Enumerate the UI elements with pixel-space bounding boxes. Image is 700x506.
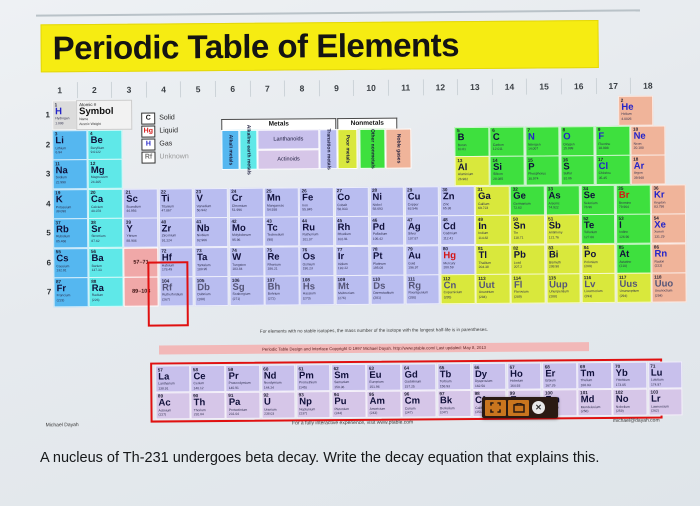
element-cell-Mo[interactable]: 42MoMolybdenum95.96 (229, 217, 264, 247)
element-cell-Br[interactable]: 35BrBromine79.904 (616, 184, 651, 214)
element-symbol: Ir (338, 252, 344, 262)
element-symbol: Se (584, 191, 596, 201)
state-legend-row-gas: HGas (141, 137, 203, 150)
grid-spacer (552, 96, 585, 124)
group-number-16: 16 (562, 78, 597, 94)
element-cell-At[interactable]: 85AtAstatine(210) (616, 243, 651, 273)
element-symbol: Os (303, 252, 316, 262)
element-mass: 231.04 (229, 413, 239, 417)
element-cell-Si[interactable]: 14SiSilicon28.085 (490, 156, 525, 186)
element-cell-Am[interactable]: 95AmAmericium(243) (366, 390, 401, 417)
element-mass: 58.933 (337, 208, 347, 212)
element-symbol: Cr (232, 194, 243, 204)
element-cell-Uup[interactable]: 115UupUnunpentium(288) (546, 273, 581, 303)
swatch-noble-label: Noble gases (395, 134, 401, 164)
element-cell-Ga[interactable]: 31GaGallium69.723 (475, 185, 510, 215)
element-mass: (281) (373, 296, 381, 300)
element-cell-Hg[interactable]: 80HgMercury200.59 (440, 245, 475, 275)
element-cell-Pb[interactable]: 82PbLead207.2 (511, 244, 546, 274)
element-cell-O[interactable]: 8OOxygen15.999 (560, 126, 595, 156)
element-cell-Nb[interactable]: 41NbNiobium92.906 (194, 217, 229, 247)
group-number-3: 3 (112, 82, 147, 98)
period-row-6: 655CsCaesium132.9156BaBarium137.3357–717… (44, 243, 658, 277)
element-mass: (268) (197, 298, 205, 302)
state-label-solid: Solid (159, 114, 175, 121)
element-symbol: Bk (440, 396, 452, 406)
element-mass: (293) (584, 295, 592, 299)
element-mass: (267) (162, 298, 170, 302)
element-cell-No[interactable]: 102NoNobelium(259) (613, 388, 648, 415)
swatch-alkali-metals: Alkali metals (221, 130, 239, 170)
element-mass: 92.906 (197, 239, 207, 243)
element-cell-Cu[interactable]: 29CuCopper63.546 (405, 186, 440, 216)
grid-spacer (422, 156, 455, 184)
element-symbol: Ba (91, 254, 103, 264)
element-mass: 232.04 (194, 413, 204, 417)
lanthanoid-placeholder-label: 57–71 (133, 259, 148, 265)
element-cell-V[interactable]: 23VVanadium50.942 (194, 187, 229, 217)
element-mass: 6.94 (55, 151, 61, 155)
element-cell-Uut[interactable]: 113UutUnuntrium(284) (476, 274, 511, 304)
element-cell-Hf[interactable]: 72HfHafnium178.49 (159, 247, 194, 277)
element-mass: 178.49 (162, 268, 172, 272)
element-cell-W[interactable]: 74WTungsten183.84 (229, 246, 264, 276)
series-row-lanthanoids: 57LaLanthanum138.9158CeCerium140.1259PrP… (155, 361, 683, 391)
period-number: 6 (44, 248, 53, 277)
element-mass: (237) (299, 412, 307, 416)
element-symbol: Hg (443, 251, 456, 261)
state-label-gas: Gas (159, 140, 172, 147)
element-cell-Bk[interactable]: 97BkBerkelium(247) (437, 390, 472, 417)
element-cell-Np[interactable]: 93NpNeptunium(237) (296, 391, 331, 418)
group-number-7: 7 (250, 81, 285, 97)
element-cell-Re[interactable]: 75ReRhenium186.21 (264, 246, 299, 276)
element-mass: 173.05 (616, 383, 626, 387)
question-text: A nucleus of Th-231 undergoes beta decay… (40, 448, 670, 469)
element-mass: 39.948 (634, 176, 644, 180)
element-cell-Bi[interactable]: 83BiBismuth208.98 (546, 244, 581, 274)
swatch-transition-metals: Transition metals (319, 129, 337, 169)
element-cell-Ni[interactable]: 28NiNickel58.693 (369, 186, 404, 216)
group-number-12: 12 (423, 79, 458, 95)
group-number-13: 13 (458, 79, 493, 95)
element-cell-Rf[interactable]: 104RfRutherfordium(267) (159, 276, 194, 306)
element-mass: 9.0122 (91, 151, 101, 155)
element-symbol: Mn (267, 194, 281, 204)
element-symbol: Co (337, 193, 350, 203)
element-symbol: Cu (408, 192, 421, 202)
swatch-transition-label: Transition metals (325, 129, 331, 170)
element-symbol: Ga (478, 192, 491, 202)
element-cell-Ar[interactable]: 18ArArgon39.948 (631, 155, 666, 185)
element-cell-Po[interactable]: 84PoPolonium(209) (581, 243, 616, 273)
element-mass: (243) (370, 412, 378, 416)
element-mass: 207.2 (514, 266, 522, 270)
element-symbol: Pb (514, 251, 526, 261)
element-cell-As[interactable]: 33AsArsenic74.922 (545, 185, 580, 215)
element-cell-Ta[interactable]: 73TaTantalum180.95 (194, 246, 229, 276)
element-mass: (258) (581, 410, 589, 414)
swatch-actinoids-label: Actinoids (277, 156, 299, 162)
element-cell-Mt[interactable]: 109MtMeitnerium(276) (335, 275, 370, 305)
element-mass: 140.91 (229, 386, 239, 390)
element-mass: 180.95 (197, 268, 207, 272)
element-symbol: Zn (443, 192, 455, 202)
element-cell-B[interactable]: 5BBoron10.81 (455, 126, 490, 156)
element-cell-Lu[interactable]: 71LuLutetium174.97 (648, 361, 683, 388)
group-number-4: 4 (147, 81, 182, 97)
element-mass: 204.38 (479, 266, 489, 270)
media-overlay-toolbar[interactable]: ✕ (482, 397, 558, 418)
element-mass: 168.93 (581, 384, 591, 388)
element-mass: (222) (655, 265, 663, 269)
element-cell-Co[interactable]: 27CoCobalt58.933 (334, 186, 369, 216)
element-cell-U[interactable]: 92UUranium238.03 (261, 391, 296, 418)
element-mass: 35.45 (599, 176, 607, 180)
element-cell-Tc[interactable]: 43TcTechnetium(98) (264, 216, 299, 246)
element-cell-Sn[interactable]: 50SnTin118.71 (510, 214, 545, 244)
element-mass: 164.93 (510, 384, 520, 388)
element-symbol: U (264, 398, 271, 408)
element-mass: 195.08 (373, 267, 383, 271)
element-symbol: As (548, 191, 560, 201)
credit-website: For a fully interactive experience, visi… (196, 419, 510, 427)
period-number: 2 (43, 130, 52, 159)
swatch-poor-label: Poor metals (344, 135, 350, 164)
element-mass: (285) (444, 296, 452, 300)
state-symbol-liquid: Hg (141, 125, 155, 137)
element-symbol: Am (370, 397, 385, 407)
element-symbol: Fe (302, 193, 313, 203)
element-cell-Fl[interactable]: 114FlFlerovium(289) (511, 273, 546, 303)
element-mass: 196.97 (408, 266, 418, 270)
element-mass: 10.81 (458, 148, 466, 152)
element-mass: (271) (233, 297, 241, 301)
element-mass: 132.91 (56, 269, 66, 273)
element-cell-Se[interactable]: 34SeSelenium78.96 (581, 184, 616, 214)
element-mass: 58.693 (373, 208, 383, 212)
element-cell-Au[interactable]: 79AuGold196.97 (405, 245, 440, 275)
element-symbol: O (563, 132, 570, 142)
element-cell-Cd[interactable]: 48CdCadmium112.41 (440, 215, 475, 245)
element-cell-Dy[interactable]: 66DyDysprosium162.50 (472, 363, 507, 390)
lanthanoid-series-placeholder[interactable]: 57–71 (124, 247, 159, 277)
element-cell-Li[interactable]: 3LiLithium6.94 (52, 130, 87, 160)
element-cell-Sm[interactable]: 62SmSamarium150.36 (331, 364, 366, 391)
element-cell-Ca[interactable]: 20CaCalcium40.078 (88, 188, 123, 218)
element-mass: 18.998 (598, 147, 608, 151)
element-symbol: Cs (56, 254, 68, 264)
element-cell-Ru[interactable]: 44RuRuthenium101.07 (299, 216, 334, 246)
element-cell-Cn[interactable]: 112CnCopernicium(285) (441, 274, 476, 304)
element-symbol: Be (91, 136, 103, 146)
element-cell-Ne[interactable]: 10NeNeon20.180 (630, 125, 665, 155)
element-cell-Kr[interactable]: 36KrKrypton83.798 (651, 184, 686, 214)
element-symbol: Lr (651, 395, 661, 405)
nonmetals-header: Nonmetals (337, 118, 397, 129)
element-mass: (294) (655, 294, 663, 298)
element-cell-Cm[interactable]: 96CmCurium(247) (402, 390, 437, 417)
element-cell-Fr[interactable]: 87FrFrancium(223) (53, 277, 88, 307)
element-mass: 1.008 (55, 122, 63, 126)
element-mass: 118.71 (514, 236, 524, 240)
group-number-8: 8 (285, 80, 320, 96)
element-mass: 183.84 (232, 268, 242, 272)
element-cell-Ba[interactable]: 56BaBarium137.33 (88, 247, 123, 277)
element-symbol: Md (581, 395, 595, 405)
element-mass: 74.922 (549, 206, 559, 210)
element-symbol: Rn (654, 250, 667, 260)
close-icon[interactable]: ✕ (532, 401, 545, 414)
periodic-table-poster: Periodic Table of Elements 1234567891011… (28, 5, 671, 430)
element-cell-Te[interactable]: 52TeTellurium127.60 (581, 214, 616, 244)
element-mass: 69.723 (478, 207, 488, 211)
element-symbol: Ca (91, 195, 103, 205)
element-cell-Ac[interactable]: 89AcActinium(227) (155, 392, 190, 419)
fullscreen-icon[interactable] (485, 400, 506, 416)
group-number-17: 17 (596, 78, 631, 94)
state-legend: CSolidHgLiquidHGasRfUnknown (141, 111, 203, 163)
element-mass: (98) (267, 238, 273, 242)
element-cell-La[interactable]: 57LaLanthanum138.91 (155, 365, 190, 392)
element-cell-Gd[interactable]: 64GdGadolinium157.25 (401, 363, 436, 390)
element-cell-Db[interactable]: 105DbDubnium(268) (194, 276, 229, 306)
element-symbol: Po (584, 250, 596, 260)
element-cell-Tm[interactable]: 69TmThulium168.93 (577, 362, 612, 389)
credit-email: michael@dayah.com (510, 418, 660, 425)
element-cell-S[interactable]: 16SSulfur32.06 (560, 155, 595, 185)
element-cell-Ra[interactable]: 88RaRadium(226) (89, 277, 124, 307)
element-mass: 138.91 (158, 387, 168, 391)
element-cell-Eu[interactable]: 63EuEuropium151.96 (366, 364, 401, 391)
element-mass: 190.23 (303, 267, 313, 271)
element-cell-Rn[interactable]: 86RnRadon(222) (651, 243, 686, 273)
element-cell-Er[interactable]: 68ErErbium167.26 (542, 362, 577, 389)
element-cell-Pu[interactable]: 94PuPlutonium(244) (331, 390, 366, 417)
element-mass: (270) (303, 297, 311, 301)
element-cell-Th[interactable]: 90ThThorium232.04 (191, 391, 226, 418)
element-mass: 101.07 (302, 238, 312, 242)
element-cell-Pa[interactable]: 91PaProtactinium231.04 (226, 391, 261, 418)
element-cell-C[interactable]: 6CCarbon12.011 (490, 126, 525, 156)
element-mass: 14.007 (528, 148, 538, 152)
element-mass: 186.21 (268, 268, 278, 272)
element-cell-Zr[interactable]: 40ZrZirconium91.224 (159, 217, 194, 247)
actinoid-series-placeholder[interactable]: 89–103 (124, 277, 159, 307)
element-mass: 30.974 (528, 177, 538, 181)
element-cell-Md[interactable]: 101MdMendelevium(258) (578, 388, 613, 415)
group-number-header: 123456789101112131415161718 (43, 78, 657, 99)
element-cell-Y[interactable]: 39YYttrium88.906 (123, 218, 158, 248)
element-symbol: Pt (373, 252, 383, 262)
element-mass: (223) (57, 299, 65, 303)
element-cell-Mg[interactable]: 12MgMagnesium24.305 (88, 159, 123, 189)
element-mass: (276) (338, 297, 346, 301)
element-cell-Lr[interactable]: 103LrLawrencium(262) (648, 388, 683, 415)
element-mass: 63.546 (408, 207, 418, 211)
swatch-lanthanoids: Lanthanoids (257, 129, 319, 149)
element-cell-Pm[interactable]: 61PmPromethium(145) (296, 364, 331, 391)
element-symbol: Li (55, 136, 64, 146)
element-cell-Tb[interactable]: 65TbTerbium158.93 (437, 363, 472, 390)
element-mass: 65.38 (443, 207, 451, 211)
element-mass: 50.942 (197, 209, 207, 213)
element-symbol: Pa (229, 398, 241, 408)
element-mass: (259) (616, 410, 624, 414)
element-symbol: No (616, 395, 629, 405)
element-cell-Al[interactable]: 13AlAluminium26.982 (455, 156, 490, 186)
element-cell-F[interactable]: 9FFluorine18.998 (595, 125, 630, 155)
element-mass: 112.41 (443, 237, 453, 241)
grid-spacer (485, 97, 518, 125)
element-symbol: Sc (126, 195, 138, 205)
element-mass: (209) (584, 265, 592, 269)
grid-spacer (419, 97, 452, 125)
element-cell-K[interactable]: 19KPotassium39.098 (53, 189, 88, 219)
element-cell-Cr[interactable]: 24CrChromium51.996 (229, 187, 264, 217)
element-mass: 4.0026 (621, 117, 631, 121)
element-cell-Cl[interactable]: 17ClChlorine35.45 (596, 155, 631, 185)
element-mass: 174.97 (651, 383, 661, 387)
page-title-text: Periodic Table of Elements (42, 26, 460, 67)
element-mass: 144.24 (264, 386, 274, 390)
element-cell-He[interactable]: 2HeHelium4.0026 (618, 96, 653, 126)
element-cell-Zn[interactable]: 30ZnZinc65.38 (440, 186, 475, 216)
element-mass: 140.12 (194, 387, 204, 391)
element-cell-Ds[interactable]: 110DsDarmstadtium(281) (370, 275, 405, 305)
group-number-2: 2 (78, 82, 113, 98)
state-label-unknown: Unknown (159, 153, 188, 160)
state-symbol-gas: H (141, 138, 155, 150)
element-mass: (262) (651, 410, 659, 414)
element-mass: 24.305 (91, 180, 101, 184)
element-cell-Hs[interactable]: 108HsHassium(270) (300, 275, 335, 305)
element-cell-Ti[interactable]: 22TiTitanium47.867 (158, 188, 193, 218)
element-cell-P[interactable]: 15PPhosphorus30.974 (525, 155, 560, 185)
copyright-bar: Periodic Table Design and Interface Copy… (159, 342, 589, 354)
element-mass: 106.42 (373, 237, 383, 241)
element-mass: 83.798 (654, 206, 664, 210)
element-cell-Os[interactable]: 76OsOsmium190.23 (300, 246, 335, 276)
element-mass: 121.76 (549, 236, 559, 240)
element-cell-Xe[interactable]: 54XeXenon131.29 (651, 213, 686, 243)
period-number: 3 (44, 159, 53, 188)
element-mass: 162.50 (475, 384, 485, 388)
element-cell-Rb[interactable]: 37RbRubidium85.468 (53, 218, 88, 248)
element-symbol: Au (408, 251, 421, 261)
grid-spacer (519, 96, 552, 124)
element-cell-Fe[interactable]: 26FeIron55.845 (299, 187, 334, 217)
element-cell-I[interactable]: 53IIodine126.90 (616, 214, 651, 244)
element-mass: 39.098 (56, 210, 66, 214)
group-number-10: 10 (354, 80, 389, 96)
window-icon[interactable] (508, 400, 529, 416)
series-row-actinoids: 89AcActinium(227)90ThThorium232.0491PaPr… (155, 388, 683, 418)
element-symbol: V (197, 194, 203, 204)
element-mass: 22.990 (56, 181, 66, 185)
element-cell-Nd[interactable]: 60NdNeodymium144.24 (261, 364, 296, 391)
element-cell-Lv[interactable]: 116LvLivermorium(293) (581, 273, 616, 303)
element-cell-Yb[interactable]: 70YbYtterbium173.05 (613, 362, 648, 389)
element-cell-Ho[interactable]: 67HoHolmium164.93 (507, 362, 542, 389)
element-cell-Na[interactable]: 11NaSodium22.990 (53, 159, 88, 189)
key-mass-label: Atomic Weight (79, 121, 101, 125)
element-cell-Cs[interactable]: 55CsCaesium132.91 (53, 248, 88, 278)
element-mass: 15.999 (563, 147, 573, 151)
swatch-poor-metals: Poor metals (337, 129, 357, 169)
element-mass: (272) (268, 297, 276, 301)
element-symbol: Np (299, 397, 312, 407)
element-mass: 20.180 (634, 147, 644, 151)
key-symbol-label: Symbol (79, 106, 113, 117)
element-symbol: Sn (513, 221, 525, 231)
element-symbol: B (458, 133, 465, 143)
element-mass: 79.904 (619, 206, 629, 210)
element-cell-Be[interactable]: 4BeBeryllium9.0122 (87, 129, 122, 159)
element-cell-Uuo[interactable]: 118UuoUnunoctium(294) (652, 272, 687, 302)
element-cell-N[interactable]: 7NNitrogen14.007 (525, 126, 560, 156)
element-cell-Uus[interactable]: 117UusUnunseptium(294) (616, 273, 651, 303)
element-cell-Ce[interactable]: 58CeCerium140.12 (190, 365, 225, 392)
element-cell-Pr[interactable]: 59PrPraseodymium140.91 (226, 365, 261, 392)
element-mass: 157.25 (405, 385, 415, 389)
element-mass: 40.078 (91, 210, 101, 214)
element-cell-Bh[interactable]: 107BhBohrium(272) (265, 275, 300, 305)
element-cell-Tl[interactable]: 81TlThallium204.38 (475, 244, 510, 274)
group-number-18: 18 (631, 78, 665, 94)
group-number-9: 9 (320, 80, 355, 96)
element-cell-Sc[interactable]: 21ScScandium44.956 (123, 188, 158, 218)
element-mass: 114.82 (478, 236, 488, 240)
element-cell-Sr[interactable]: 38SrStrontium87.62 (88, 218, 123, 248)
element-symbol: C (493, 133, 500, 143)
element-mass: 150.36 (334, 386, 344, 390)
state-legend-row-unknown: RfUnknown (141, 150, 203, 163)
element-cell-Rh[interactable]: 45RhRhodium102.91 (334, 216, 369, 246)
element-symbol: Ne (634, 132, 646, 142)
swatch-alkaline-label: Alkaline earth metals (245, 125, 251, 175)
element-symbol: N (528, 133, 535, 143)
group-number-5: 5 (181, 81, 216, 97)
element-symbol: Hf (162, 253, 172, 263)
element-cell-Pd[interactable]: 46PdPalladium106.42 (370, 216, 405, 246)
element-cell-Ag[interactable]: 47AgSilver107.87 (405, 215, 440, 245)
element-cell-In[interactable]: 49InIndium114.82 (475, 215, 510, 245)
element-symbol: Cm (405, 396, 420, 406)
group-number-15: 15 (527, 78, 562, 94)
element-cell-Sb[interactable]: 51SbAntimony121.76 (546, 214, 581, 244)
element-mass: 54.938 (267, 209, 277, 213)
period-number: 5 (44, 218, 53, 247)
element-cell-Rg[interactable]: 111RgRoentgenium(280) (405, 274, 440, 304)
element-cell-Pt[interactable]: 78PtPlatinum195.08 (370, 245, 405, 275)
element-mass: 91.224 (162, 239, 172, 243)
element-symbol: K (56, 195, 63, 205)
element-cell-Ir[interactable]: 77IrIridium192.22 (335, 245, 370, 275)
grid-spacer (585, 96, 618, 124)
element-cell-Ge[interactable]: 32GeGermanium72.63 (510, 185, 545, 215)
element-mass: 12.011 (493, 148, 503, 152)
grid-spacer (421, 127, 454, 155)
element-cell-Sg[interactable]: 106SgSeaborgium(271) (229, 276, 264, 306)
element-cell-Mn[interactable]: 25MnManganese54.938 (264, 187, 299, 217)
period-row-5: 537RbRubidium85.46838SrStrontium87.6239Y… (44, 214, 658, 248)
element-symbol: Ta (197, 253, 207, 263)
element-mass: 127.60 (584, 236, 594, 240)
element-mass: (247) (405, 412, 413, 416)
element-mass: (294) (620, 294, 628, 298)
key-name-label: Name (79, 117, 88, 121)
